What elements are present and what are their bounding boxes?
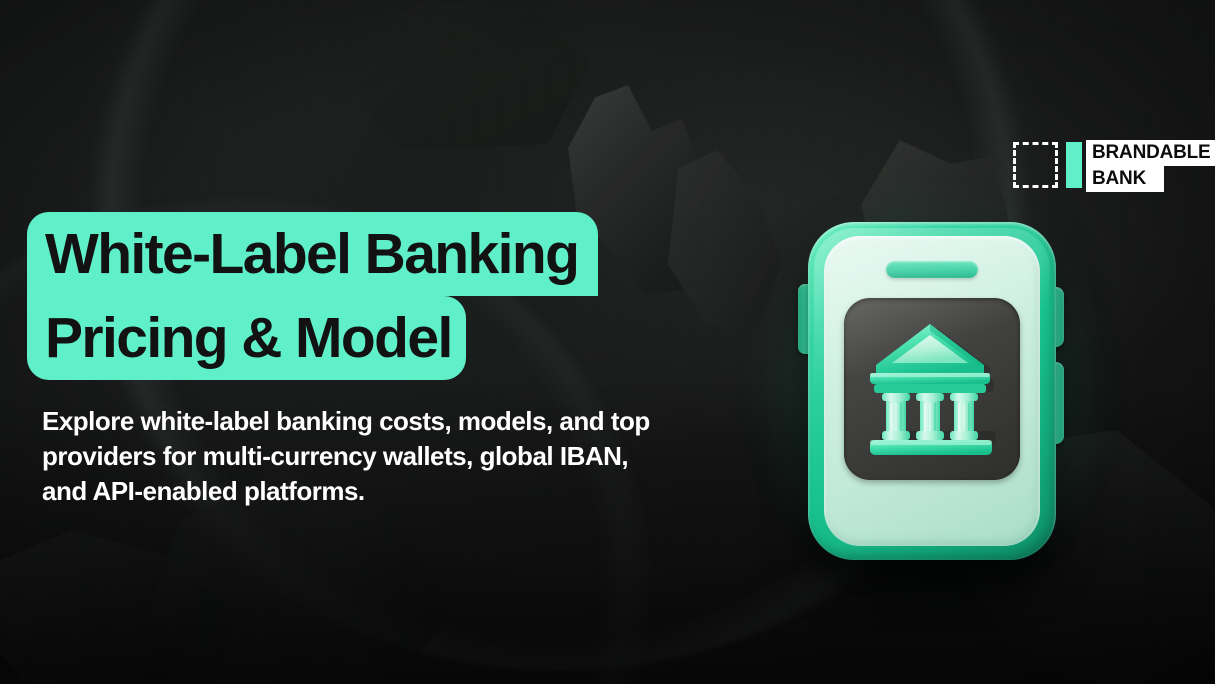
- brand-logo-wordmark: BRANDABLE BANK: [1086, 140, 1215, 192]
- page-subtitle: Explore white-label banking costs, model…: [42, 404, 652, 509]
- speaker-slot-icon: [886, 261, 978, 278]
- brand-name-line-1: BRANDABLE: [1086, 140, 1215, 166]
- phone-illustration: [786, 212, 1076, 572]
- page-title-line-1: White-Label Banking: [27, 212, 598, 296]
- mint-bar-icon: [1066, 142, 1082, 188]
- page-title: White-Label Banking Pricing & Model: [27, 212, 727, 380]
- bank-building-icon: [856, 313, 1008, 465]
- phone-face: [824, 236, 1040, 546]
- dashed-square-icon: [1013, 142, 1058, 188]
- phone-screen: [844, 298, 1020, 480]
- brand-logo[interactable]: BRANDABLE BANK: [1013, 140, 1215, 192]
- brand-name-line-2: BANK: [1086, 166, 1164, 192]
- hero-banner: BRANDABLE BANK White-Label Banking Prici…: [0, 0, 1215, 684]
- smartphone-icon: [808, 222, 1056, 560]
- page-title-line-2: Pricing & Model: [27, 296, 466, 380]
